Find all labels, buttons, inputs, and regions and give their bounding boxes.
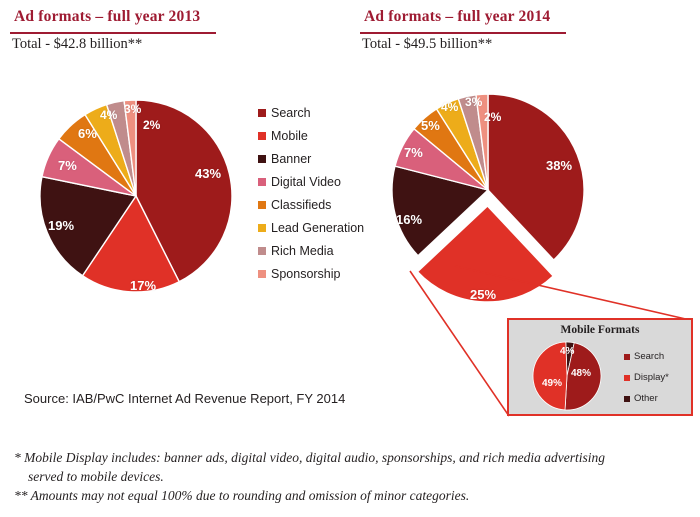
- legend-label: Search: [634, 351, 664, 362]
- legend-item-search[interactable]: Search: [258, 101, 358, 124]
- inset-legend: Search Display* Other: [624, 346, 669, 409]
- legend-swatch-icon: [258, 178, 266, 186]
- legend-swatch-icon: [624, 354, 630, 360]
- footnote-1-cont: served to mobile devices.: [14, 467, 674, 486]
- pie-2014-label-search: 38%: [546, 158, 572, 173]
- title-rule-2014: [360, 32, 566, 34]
- panel-total-2014: Total - $49.5 billion**: [362, 36, 492, 53]
- pie-2013-label-sponsorship: 2%: [143, 118, 160, 132]
- footnote-1: * Mobile Display includes: banner ads, d…: [14, 448, 674, 467]
- panel-title-2013: Ad formats – full year 2013: [14, 8, 200, 26]
- inset-label-display: 49%: [542, 378, 562, 389]
- legend-swatch-icon: [258, 109, 266, 117]
- pie-2013-label-lead-generation: 4%: [100, 108, 117, 122]
- legend-item-banner[interactable]: Banner: [258, 147, 358, 170]
- mobile-formats-inset: Mobile Formats 48% 49% 4% Search Display…: [507, 318, 693, 416]
- pie-2014-label-banner: 16%: [396, 212, 422, 227]
- inset-legend-item-other[interactable]: Other: [624, 388, 669, 409]
- legend-item-digital-video[interactable]: Digital Video: [258, 170, 358, 193]
- legend-item-classifieds[interactable]: Classifieds: [258, 193, 358, 216]
- pie-2014-label-classifieds: 5%: [421, 118, 440, 133]
- legend-item-rich-media[interactable]: Rich Media: [258, 239, 358, 262]
- legend-swatch-icon: [624, 396, 630, 402]
- legend-label: Search: [271, 106, 311, 120]
- inset-label-search: 48%: [571, 368, 591, 379]
- legend-label: Rich Media: [271, 244, 334, 258]
- legend-item-lead-generation[interactable]: Lead Generation: [258, 216, 358, 239]
- pie-2014-label-mobile: 25%: [470, 287, 496, 302]
- pie-2014-label-digital-video: 7%: [404, 145, 423, 160]
- legend-label: Lead Generation: [271, 221, 364, 235]
- pie-2014-label-sponsorship: 2%: [484, 110, 501, 124]
- legend-swatch-icon: [624, 375, 630, 381]
- inset-pie: 48% 49% 4%: [531, 340, 603, 412]
- footnotes: * Mobile Display includes: banner ads, d…: [14, 448, 674, 505]
- legend-swatch-icon: [258, 224, 266, 232]
- legend-item-sponsorship[interactable]: Sponsorship: [258, 262, 358, 285]
- title-rule-2013: [10, 32, 216, 34]
- source-note: Source: IAB/PwC Internet Ad Revenue Repo…: [24, 391, 345, 406]
- legend-item-mobile[interactable]: Mobile: [258, 124, 358, 147]
- pie-2014-label-lead-generation: 4%: [441, 100, 458, 114]
- inset-title: Mobile Formats: [509, 324, 691, 336]
- inset-legend-item-search[interactable]: Search: [624, 346, 669, 367]
- legend-swatch-icon: [258, 270, 266, 278]
- main-legend: Search Mobile Banner Digital Video Class…: [258, 101, 358, 285]
- legend-label: Display*: [634, 372, 669, 383]
- legend-swatch-icon: [258, 155, 266, 163]
- legend-swatch-icon: [258, 201, 266, 209]
- legend-swatch-icon: [258, 247, 266, 255]
- inset-label-other: 4%: [560, 346, 574, 357]
- legend-label: Classifieds: [271, 198, 331, 212]
- pie-2013-label-banner: 19%: [48, 218, 74, 233]
- pie-2013-label-search: 43%: [195, 166, 221, 181]
- pie-2013-label-rich-media: 3%: [124, 102, 141, 116]
- legend-label: Sponsorship: [271, 267, 341, 281]
- pie-2013-label-digital-video: 7%: [58, 158, 77, 173]
- panel-title-2014: Ad formats – full year 2014: [364, 8, 550, 26]
- pie-2013-label-mobile: 17%: [130, 278, 156, 293]
- inset-legend-item-display[interactable]: Display*: [624, 367, 669, 388]
- legend-label: Banner: [271, 152, 311, 166]
- panel-total-2013: Total - $42.8 billion**: [12, 36, 142, 53]
- legend-label: Mobile: [271, 129, 308, 143]
- pie-2014-label-rich-media: 3%: [465, 95, 482, 109]
- pie-2013-label-classifieds: 6%: [78, 126, 97, 141]
- legend-label: Other: [634, 393, 658, 404]
- footnote-2: ** Amounts may not equal 100% due to rou…: [14, 486, 674, 505]
- legend-label: Digital Video: [271, 175, 341, 189]
- legend-swatch-icon: [258, 132, 266, 140]
